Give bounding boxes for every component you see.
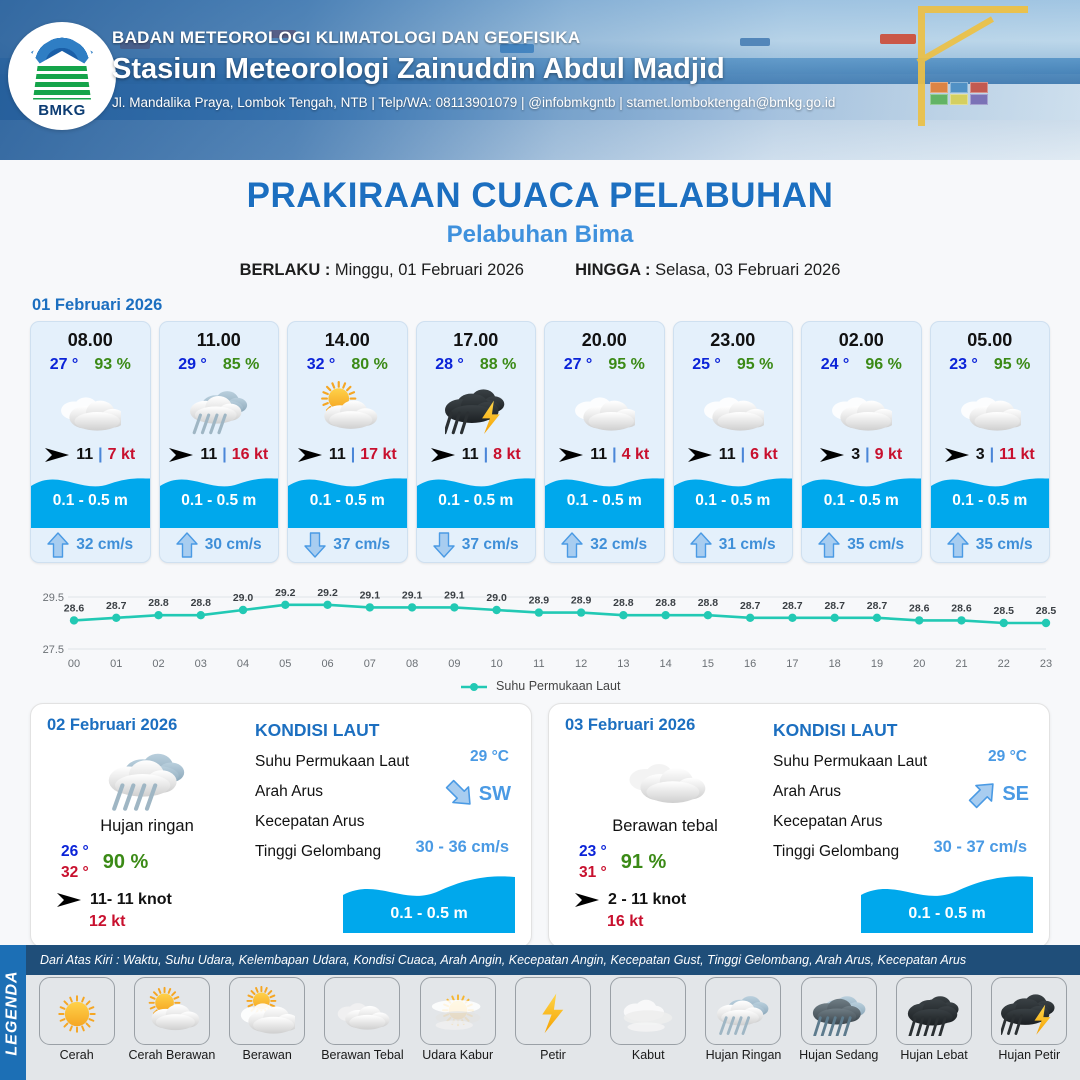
card-wind-row: 11 | 8 kt <box>417 446 536 464</box>
current-direction-value-group: SE <box>967 778 1029 810</box>
card-current-speed: 37 cm/s <box>462 536 519 554</box>
card-time: 20.00 <box>545 322 664 351</box>
legend-item-label: Petir <box>540 1048 566 1062</box>
wind-direction-arrow-icon <box>945 447 971 463</box>
card-time: 17.00 <box>417 322 536 351</box>
wind-direction-arrow-icon <box>559 447 585 463</box>
card-wave-zone: 0.1 - 0.5 m <box>931 470 1050 528</box>
legend-icon-berawan-tebal <box>324 977 400 1045</box>
current-direction-arrow-icon <box>561 532 583 558</box>
svg-text:29.1: 29.1 <box>402 589 423 601</box>
legend-item-label: Hujan Lebat <box>900 1048 967 1062</box>
card-wave-height: 0.1 - 0.5 m <box>674 492 793 510</box>
hourly-card: 17.00 28 ° 88 % 11 | 8 kt <box>416 321 537 563</box>
card-current-speed: 37 cm/s <box>333 536 390 554</box>
sst-legend-label: Suhu Permukaan Laut <box>496 679 620 693</box>
hourly-card: 05.00 23 ° 95 % 3 | 11 kt <box>930 321 1051 563</box>
card-humidity: 95 % <box>737 356 773 374</box>
svg-text:16: 16 <box>744 658 756 670</box>
legend-item: Kabut <box>604 977 693 1062</box>
daily-gust-speed: 12 kt <box>47 913 247 931</box>
card-wind-direction: 11 <box>719 446 736 464</box>
legend-item-label: Berawan Tebal <box>321 1048 403 1062</box>
legend-note-text: Dari Atas Kiri : Waktu, Suhu Udara, Kele… <box>40 953 966 967</box>
legend-side-title: LEGENDA <box>0 945 26 1080</box>
svg-text:28.9: 28.9 <box>571 595 592 607</box>
legend-icon-hujan-sedang <box>801 977 877 1045</box>
daily-date: 02 Februari 2026 <box>47 716 247 735</box>
card-current-speed: 35 cm/s <box>847 536 904 554</box>
svg-text:14: 14 <box>660 658 672 670</box>
current-direction-arrow-icon <box>47 532 69 558</box>
daily-wind-speed: 2 - 11 knot <box>608 891 686 909</box>
legend-item-label: Udara Kabur <box>422 1048 493 1062</box>
current-speed-value: 30 - 36 cm/s <box>415 838 509 857</box>
svg-text:28.5: 28.5 <box>994 605 1015 617</box>
bmkg-logo-star-icon <box>31 34 93 64</box>
card-time: 11.00 <box>160 322 279 351</box>
current-direction-arrow-icon <box>690 532 712 558</box>
current-direction-arrow-sw-icon <box>444 778 476 810</box>
legend-icon-berawan-sun <box>229 977 305 1045</box>
current-direction-arrow-icon <box>176 532 198 558</box>
svg-text:29.2: 29.2 <box>317 587 338 599</box>
page-subtitle: Pelabuhan Bima <box>0 221 1080 249</box>
legend-items: Cerah Cerah Berawan <box>26 977 1080 1062</box>
card-current-row: 32 cm/s <box>545 528 664 562</box>
wind-direction-arrow-icon <box>575 892 601 908</box>
card-wind-separator: | <box>351 446 355 464</box>
card-current-speed: 31 cm/s <box>719 536 776 554</box>
card-temp-hum-row: 27 ° 93 % <box>31 356 150 374</box>
hourly-card: 23.00 25 ° 95 % 11 | 6 kt <box>673 321 794 563</box>
current-direction-value-group: SW <box>444 778 511 810</box>
sst-chart-legend: Suhu Permukaan Laut <box>0 679 1080 693</box>
card-gust-speed: 17 kt <box>360 446 396 464</box>
card-wave-zone: 0.1 - 0.5 m <box>31 470 150 528</box>
daily-wind-row: 11- 11 knot <box>47 891 247 909</box>
card-wind-direction: 3 <box>851 446 860 464</box>
daily-humidity: 91 % <box>621 851 667 874</box>
card-wave-height: 0.1 - 0.5 m <box>545 492 664 510</box>
card-current-speed: 35 cm/s <box>976 536 1033 554</box>
current-direction-arrow-icon <box>433 532 455 558</box>
svg-text:03: 03 <box>195 658 207 670</box>
legend-icon-petir <box>515 977 591 1045</box>
legend-item: Cerah <box>32 977 121 1062</box>
berlaku-value: Minggu, 01 Februari 2026 <box>335 261 524 279</box>
current-speed-label: Kecepatan Arus <box>255 813 515 831</box>
card-current-speed: 32 cm/s <box>76 536 133 554</box>
svg-text:19: 19 <box>871 658 883 670</box>
wave-height-value: 0.1 - 0.5 m <box>861 905 1033 923</box>
daily-condition: Berawan tebal <box>565 817 765 836</box>
daily-left-column: 02 Februari 2026 Hujan ringan 26 ° 32 ° <box>47 716 247 935</box>
daily-date: 03 Februari 2026 <box>565 716 765 735</box>
svg-text:23: 23 <box>1040 658 1052 670</box>
hourly-card: 02.00 24 ° 96 % 3 | 9 kt <box>801 321 922 563</box>
svg-text:28.9: 28.9 <box>529 595 550 607</box>
daily-wave-svg <box>343 873 515 933</box>
svg-text:02: 02 <box>152 658 164 670</box>
card-wind-direction: 3 <box>976 446 985 464</box>
card-wave-zone: 0.1 - 0.5 m <box>674 470 793 528</box>
daily-forecast-panel: 03 Februari 2026 Berawan tebal 23 ° 31 ° <box>548 703 1050 948</box>
svg-text:04: 04 <box>237 658 249 670</box>
station-name: Stasiun Meteorologi Zainuddin Abdul Madj… <box>112 53 835 86</box>
card-wave-zone: 0.1 - 0.5 m <box>802 470 921 528</box>
svg-text:01: 01 <box>110 658 122 670</box>
svg-text:09: 09 <box>448 658 460 670</box>
hingga-label: HINGGA : <box>575 261 650 279</box>
current-speed-label: Kecepatan Arus <box>773 813 1033 831</box>
card-temperature: 28 ° <box>435 356 464 374</box>
hourly-card: 14.00 32 ° 80 % 11 | 17 kt 0.1 - 0.5 m <box>287 321 408 563</box>
daily-wave-svg <box>861 873 1033 933</box>
card-current-row: 35 cm/s <box>931 528 1050 562</box>
svg-text:28.8: 28.8 <box>148 597 169 609</box>
legend-side-title-text: LEGENDA <box>4 970 22 1055</box>
card-gust-speed: 4 kt <box>622 446 650 464</box>
sst-chart: 27.529.528.60028.70128.80228.80329.00429… <box>22 575 1058 675</box>
daily-sea-column: KONDISI LAUT Suhu Permukaan Laut Arah Ar… <box>765 716 1033 935</box>
card-temp-hum-row: 23 ° 95 % <box>931 356 1050 374</box>
svg-text:18: 18 <box>829 658 841 670</box>
card-wind-direction: 11 <box>590 446 607 464</box>
card-wind-row: 11 | 4 kt <box>545 446 664 464</box>
sea-condition-title: KONDISI LAUT <box>255 720 515 741</box>
svg-text:11: 11 <box>533 658 544 670</box>
legend-icon-cerah <box>39 977 115 1045</box>
card-gust-speed: 7 kt <box>108 446 136 464</box>
wind-direction-arrow-icon <box>820 447 846 463</box>
card-current-row: 31 cm/s <box>674 528 793 562</box>
svg-text:20: 20 <box>913 658 925 670</box>
sst-value: 29 °C <box>988 748 1027 766</box>
wind-direction-arrow-icon <box>298 447 324 463</box>
svg-text:21: 21 <box>955 658 967 670</box>
card-wave-height: 0.1 - 0.5 m <box>417 492 536 510</box>
svg-text:28.6: 28.6 <box>64 602 85 614</box>
bmkg-logo-text: BMKG <box>38 102 85 119</box>
daily-temp-min: 26 ° <box>61 842 89 863</box>
card-wind-separator: | <box>741 446 745 464</box>
card-weather-icon-hujan-ringan <box>160 377 279 439</box>
svg-text:12: 12 <box>575 658 587 670</box>
current-direction-value: SE <box>1002 783 1029 806</box>
card-time: 14.00 <box>288 322 407 351</box>
sst-value: 29 °C <box>470 748 509 766</box>
legend-note: Dari Atas Kiri : Waktu, Suhu Udara, Kele… <box>26 945 1080 975</box>
card-current-row: 35 cm/s <box>802 528 921 562</box>
legend-icon-hujan-petir <box>991 977 1067 1045</box>
daily-temp-hum-row: 23 ° 31 ° 91 % <box>565 842 765 884</box>
page-header: BMKG BADAN METEOROLOGI KLIMATOLOGI DAN G… <box>0 0 1080 160</box>
card-temperature: 24 ° <box>821 356 850 374</box>
svg-text:10: 10 <box>490 658 502 670</box>
contact-info: Jl. Mandalika Praya, Lombok Tengah, NTB … <box>112 95 835 110</box>
card-temp-hum-row: 32 ° 80 % <box>288 356 407 374</box>
daily-sea-column: KONDISI LAUT Suhu Permukaan Laut Arah Ar… <box>247 716 515 935</box>
legend-item-label: Cerah <box>60 1048 94 1062</box>
svg-text:29.1: 29.1 <box>360 589 381 601</box>
legend-item: Hujan Sedang <box>794 977 883 1062</box>
card-gust-speed: 16 kt <box>232 446 268 464</box>
legend-icon-hujan-ringan <box>705 977 781 1045</box>
card-current-row: 30 cm/s <box>160 528 279 562</box>
svg-text:07: 07 <box>364 658 376 670</box>
hingga-value: Selasa, 03 Februari 2026 <box>655 261 840 279</box>
card-weather-icon-cerah-berawan <box>288 377 407 439</box>
card-humidity: 95 % <box>994 356 1030 374</box>
wind-direction-arrow-icon <box>169 447 195 463</box>
legend-item-label: Hujan Sedang <box>799 1048 878 1062</box>
card-humidity: 93 % <box>94 356 130 374</box>
card-temperature: 32 ° <box>307 356 336 374</box>
legend-item: Hujan Lebat <box>889 977 978 1062</box>
card-weather-icon-hujan-petir <box>417 377 536 439</box>
svg-text:28.7: 28.7 <box>867 600 888 612</box>
card-temp-hum-row: 25 ° 95 % <box>674 356 793 374</box>
card-wind-row: 11 | 7 kt <box>31 446 150 464</box>
svg-text:13: 13 <box>617 658 629 670</box>
svg-text:28.7: 28.7 <box>740 600 761 612</box>
daily-temp-hum-row: 26 ° 32 ° 90 % <box>47 842 247 884</box>
card-wave-zone: 0.1 - 0.5 m <box>545 470 664 528</box>
card-wave-height: 0.1 - 0.5 m <box>160 492 279 510</box>
card-time: 23.00 <box>674 322 793 351</box>
card-wave-height: 0.1 - 0.5 m <box>931 492 1050 510</box>
card-wind-separator: | <box>484 446 488 464</box>
daily-wind-row: 2 - 11 knot <box>565 891 765 909</box>
svg-text:08: 08 <box>406 658 418 670</box>
daily-temp-max: 31 ° <box>579 863 607 884</box>
hourly-card: 11.00 29 ° 85 % 11 | 16 kt <box>159 321 280 563</box>
legend-icon-hujan-lebat <box>896 977 972 1045</box>
card-wind-separator: | <box>612 446 616 464</box>
card-gust-speed: 8 kt <box>493 446 521 464</box>
card-time: 08.00 <box>31 322 150 351</box>
wind-direction-arrow-icon <box>688 447 714 463</box>
daily-left-column: 03 Februari 2026 Berawan tebal 23 ° 31 ° <box>565 716 765 935</box>
svg-text:15: 15 <box>702 658 714 670</box>
wind-direction-arrow-icon <box>431 447 457 463</box>
card-wave-height: 0.1 - 0.5 m <box>288 492 407 510</box>
wave-height-value: 0.1 - 0.5 m <box>343 905 515 923</box>
daily-forecast-panels: 02 Februari 2026 Hujan ringan 26 ° 32 ° <box>0 693 1080 948</box>
svg-text:05: 05 <box>279 658 291 670</box>
card-wind-row: 11 | 16 kt <box>160 446 279 464</box>
card-temperature: 27 ° <box>564 356 593 374</box>
svg-text:29.5: 29.5 <box>43 592 64 604</box>
current-direction-arrow-se-icon <box>967 778 999 810</box>
svg-text:29.0: 29.0 <box>233 592 254 604</box>
legend-item: Udara Kabur <box>413 977 502 1062</box>
card-gust-speed: 9 kt <box>875 446 903 464</box>
card-wind-row: 11 | 6 kt <box>674 446 793 464</box>
svg-text:28.8: 28.8 <box>191 597 212 609</box>
svg-text:06: 06 <box>321 658 333 670</box>
current-direction-arrow-icon <box>947 532 969 558</box>
card-weather-icon-berawan <box>931 377 1050 439</box>
card-wave-zone: 0.1 - 0.5 m <box>160 470 279 528</box>
bmkg-logo: BMKG <box>8 22 116 130</box>
card-temp-hum-row: 29 ° 85 % <box>160 356 279 374</box>
title-block: PRAKIRAAN CUACA PELABUHAN Pelabuhan Bima… <box>0 176 1080 280</box>
svg-text:28.8: 28.8 <box>613 597 634 609</box>
card-temperature: 27 ° <box>50 356 79 374</box>
current-direction-value: SW <box>479 783 511 806</box>
card-wave-zone: 0.1 - 0.5 m <box>417 470 536 528</box>
sst-chart-svg: 27.529.528.60028.70128.80228.80329.00429… <box>22 575 1058 675</box>
legend-item-label: Cerah Berawan <box>128 1048 215 1062</box>
card-current-row: 37 cm/s <box>417 528 536 562</box>
card-wind-row: 3 | 11 kt <box>931 446 1050 464</box>
card-wind-separator: | <box>98 446 102 464</box>
daily-temp-range: 23 ° 31 ° <box>579 842 607 884</box>
hourly-card: 20.00 27 ° 95 % 11 | 4 kt <box>544 321 665 563</box>
card-current-speed: 32 cm/s <box>590 536 647 554</box>
header-text-block: BADAN METEOROLOGI KLIMATOLOGI DAN GEOFIS… <box>112 28 835 110</box>
hourly-card: 08.00 27 ° 93 % 11 | 7 kt <box>30 321 151 563</box>
card-temperature: 29 ° <box>178 356 207 374</box>
legend-item: Hujan Petir <box>985 977 1074 1062</box>
card-weather-icon-berawan <box>802 377 921 439</box>
daily-forecast-panel: 02 Februari 2026 Hujan ringan 26 ° 32 ° <box>30 703 532 948</box>
svg-text:29.0: 29.0 <box>486 592 507 604</box>
legend-item-label: Hujan Petir <box>998 1048 1060 1062</box>
card-humidity: 80 % <box>351 356 387 374</box>
hourly-forecast-cards: 08.00 27 ° 93 % 11 | 7 kt <box>0 321 1080 563</box>
card-current-speed: 30 cm/s <box>205 536 262 554</box>
card-humidity: 96 % <box>865 356 901 374</box>
card-time: 02.00 <box>802 322 921 351</box>
svg-text:27.5: 27.5 <box>43 644 64 656</box>
page-title: PRAKIRAAN CUACA PELABUHAN <box>0 176 1080 216</box>
card-temp-hum-row: 27 ° 95 % <box>545 356 664 374</box>
svg-text:17: 17 <box>786 658 798 670</box>
svg-text:28.8: 28.8 <box>698 597 719 609</box>
legend-item: Berawan <box>223 977 312 1062</box>
svg-text:29.1: 29.1 <box>444 589 465 601</box>
berlaku-label: BERLAKU : <box>240 261 331 279</box>
card-wave-height: 0.1 - 0.5 m <box>802 492 921 510</box>
card-weather-icon-berawan <box>31 377 150 439</box>
svg-text:00: 00 <box>68 658 80 670</box>
daily-weather-icon-hujan-ringan <box>47 737 247 815</box>
card-wind-row: 3 | 9 kt <box>802 446 921 464</box>
card-humidity: 95 % <box>608 356 644 374</box>
hourly-date-label: 01 Februari 2026 <box>32 296 1080 315</box>
card-weather-icon-berawan <box>674 377 793 439</box>
card-temp-hum-row: 24 ° 96 % <box>802 356 921 374</box>
legend-item: Berawan Tebal <box>318 977 407 1062</box>
svg-text:28.7: 28.7 <box>824 600 845 612</box>
svg-text:28.6: 28.6 <box>909 602 930 614</box>
legend-item: Cerah Berawan <box>127 977 216 1062</box>
current-direction-arrow-icon <box>304 532 326 558</box>
card-gust-speed: 6 kt <box>750 446 778 464</box>
legend-item-label: Hujan Ringan <box>706 1048 782 1062</box>
card-wind-row: 11 | 17 kt <box>288 446 407 464</box>
svg-text:28.7: 28.7 <box>106 600 127 612</box>
card-wind-separator: | <box>222 446 226 464</box>
daily-temp-min: 23 ° <box>579 842 607 863</box>
card-current-row: 37 cm/s <box>288 528 407 562</box>
card-wind-direction: 11 <box>200 446 217 464</box>
legend-item-label: Kabut <box>632 1048 665 1062</box>
svg-text:28.8: 28.8 <box>655 597 676 609</box>
card-temperature: 25 ° <box>692 356 721 374</box>
daily-temp-range: 26 ° 32 ° <box>61 842 89 884</box>
card-gust-speed: 11 kt <box>999 446 1035 464</box>
daily-wave-graphic: 0.1 - 0.5 m <box>343 873 515 933</box>
daily-wave-graphic: 0.1 - 0.5 m <box>861 873 1033 933</box>
legend-icon-udara-kabur <box>420 977 496 1045</box>
current-speed-value: 30 - 37 cm/s <box>933 838 1027 857</box>
bmkg-logo-waves-icon <box>33 66 91 100</box>
svg-text:29.2: 29.2 <box>275 587 296 599</box>
daily-temp-max: 32 ° <box>61 863 89 884</box>
card-wave-height: 0.1 - 0.5 m <box>31 492 150 510</box>
wind-direction-arrow-icon <box>57 892 83 908</box>
card-wind-direction: 11 <box>462 446 479 464</box>
card-current-row: 32 cm/s <box>31 528 150 562</box>
legend-item: Hujan Ringan <box>699 977 788 1062</box>
validity-row: BERLAKU : Minggu, 01 Februari 2026 HINGG… <box>0 261 1080 280</box>
daily-weather-icon-berawan-tebal <box>565 737 765 815</box>
legend-bar: LEGENDA Dari Atas Kiri : Waktu, Suhu Uda… <box>0 945 1080 1080</box>
card-wave-zone: 0.1 - 0.5 m <box>288 470 407 528</box>
svg-text:28.6: 28.6 <box>951 602 972 614</box>
legend-item-label: Berawan <box>242 1048 291 1062</box>
sst-legend-marker-icon <box>460 682 488 692</box>
card-weather-icon-berawan <box>545 377 664 439</box>
card-wind-separator: | <box>865 446 869 464</box>
card-time: 05.00 <box>931 322 1050 351</box>
card-temp-hum-row: 28 ° 88 % <box>417 356 536 374</box>
daily-gust-speed: 16 kt <box>565 913 765 931</box>
card-humidity: 88 % <box>480 356 516 374</box>
svg-text:22: 22 <box>998 658 1010 670</box>
svg-text:28.7: 28.7 <box>782 600 803 612</box>
legend-item: Petir <box>508 977 597 1062</box>
daily-condition: Hujan ringan <box>47 817 247 836</box>
sea-condition-title: KONDISI LAUT <box>773 720 1033 741</box>
card-humidity: 85 % <box>223 356 259 374</box>
daily-wind-speed: 11- 11 knot <box>90 891 172 909</box>
card-temperature: 23 ° <box>949 356 978 374</box>
daily-humidity: 90 % <box>103 851 149 874</box>
current-direction-arrow-icon <box>818 532 840 558</box>
agency-name: BADAN METEOROLOGI KLIMATOLOGI DAN GEOFIS… <box>112 28 835 48</box>
card-wind-direction: 11 <box>76 446 93 464</box>
svg-text:28.5: 28.5 <box>1036 605 1057 617</box>
legend-icon-cerah-berawan <box>134 977 210 1045</box>
wind-direction-arrow-icon <box>45 447 71 463</box>
legend-icon-kabut <box>610 977 686 1045</box>
card-wind-direction: 11 <box>329 446 346 464</box>
card-wind-separator: | <box>990 446 994 464</box>
